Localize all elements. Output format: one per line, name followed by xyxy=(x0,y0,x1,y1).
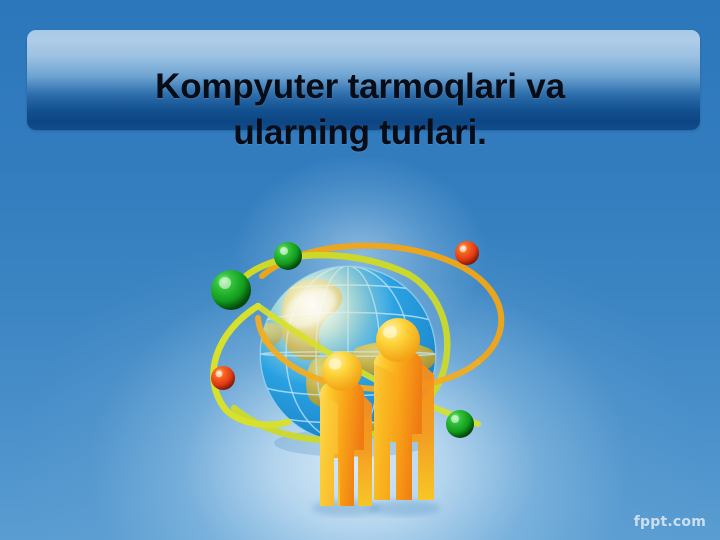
global-network-illustration xyxy=(196,228,526,518)
node-green-small-top xyxy=(274,242,302,270)
watermark-fppt: fppt.com xyxy=(634,514,706,530)
node-green-right-bottom xyxy=(446,410,474,438)
node-green-large-left xyxy=(211,270,251,310)
page-title: Kompyuter tarmoqlari va ularning turlari… xyxy=(40,64,680,156)
node-red-left-bottom xyxy=(211,366,235,390)
presentation-slide: Kompyuter tarmoqlari va ularning turlari… xyxy=(0,0,720,540)
node-red-top-right xyxy=(455,241,479,265)
